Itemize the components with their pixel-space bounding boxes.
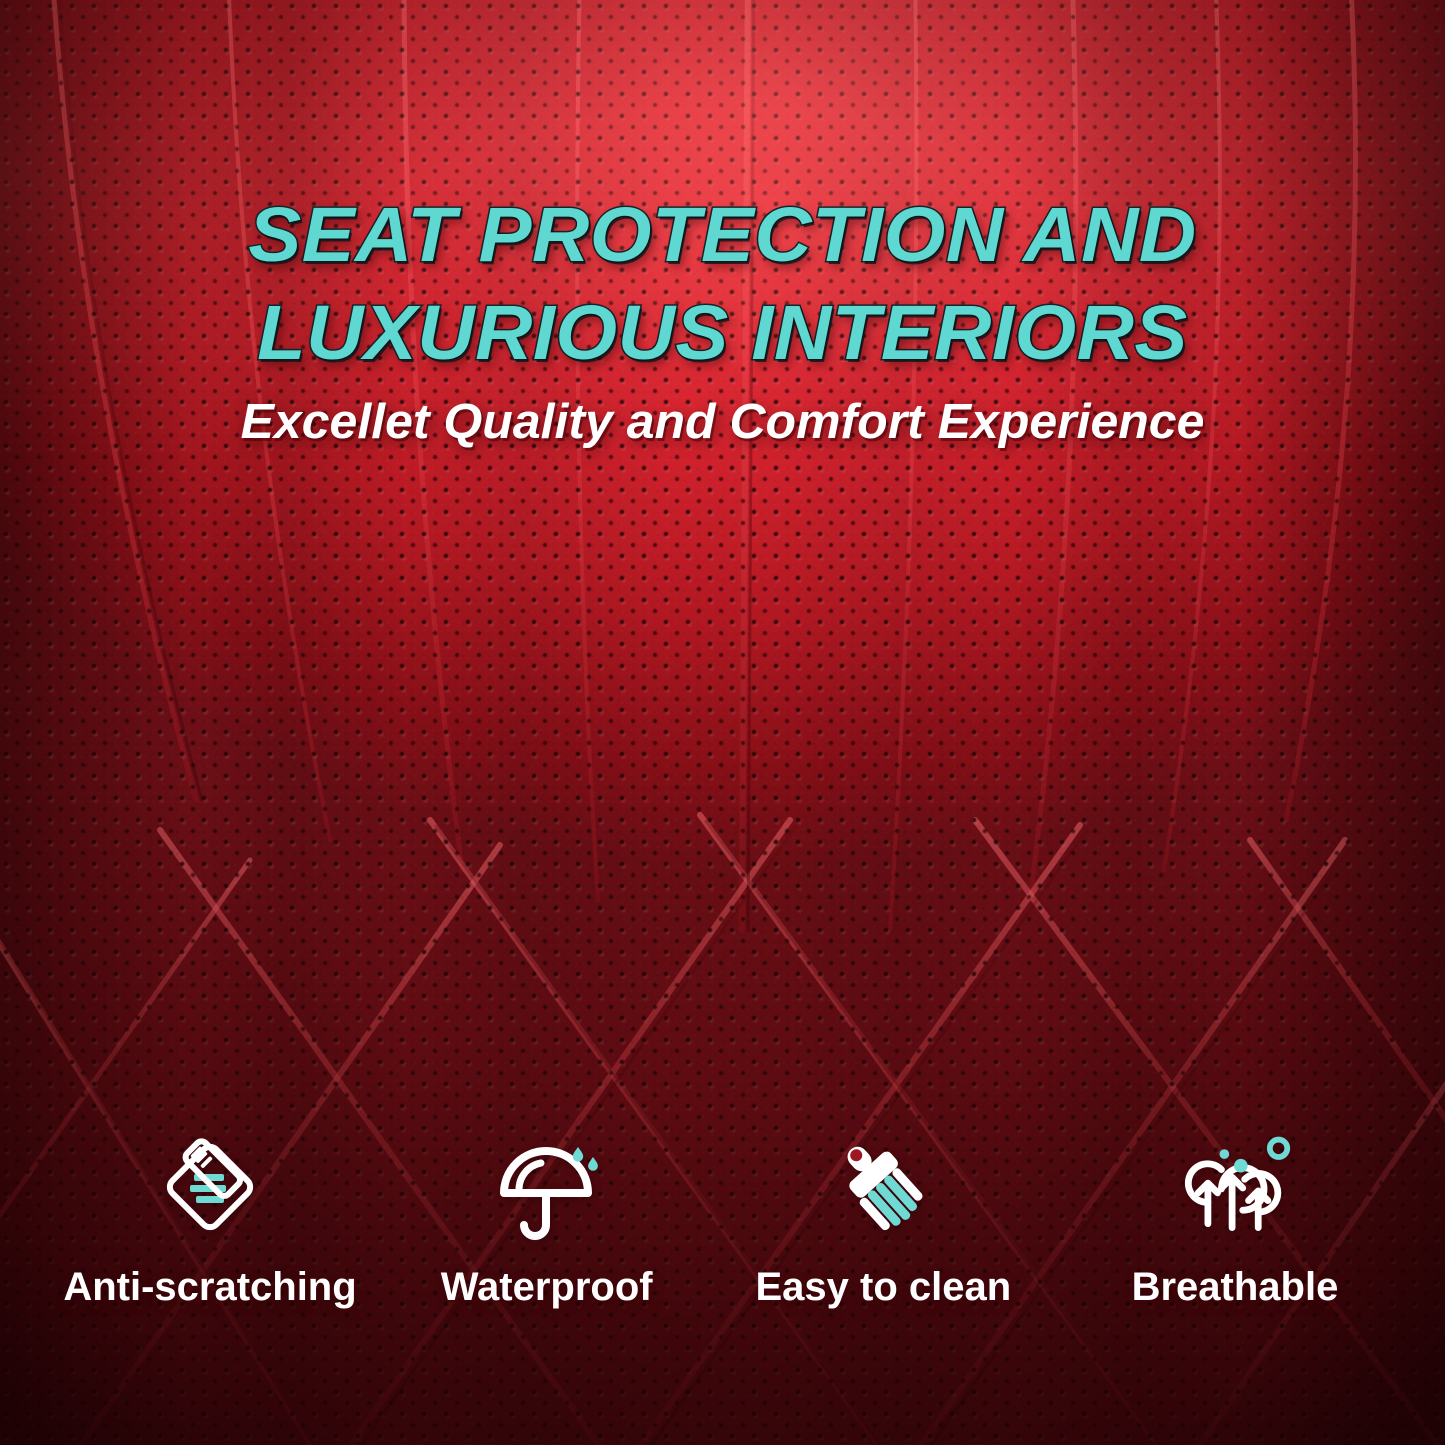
headline: SEAT PROTECTION AND LUXURIOUS INTERIORS <box>0 186 1445 382</box>
feature-easy-to-clean: Easy to clean <box>733 1132 1033 1310</box>
feature-waterproof: Waterproof <box>412 1132 682 1310</box>
headline-line-2: LUXURIOUS INTERIORS <box>0 284 1445 382</box>
feature-label: Waterproof <box>441 1264 653 1310</box>
feature-label: Anti-scratching <box>63 1264 356 1310</box>
feature-label: Easy to clean <box>755 1264 1011 1310</box>
anti-scratch-icon <box>150 1132 270 1242</box>
feature-list: Anti-scratching Waterproof <box>60 1132 1385 1310</box>
feature-breathable: Breathable <box>1085 1132 1385 1310</box>
product-infographic: SEAT PROTECTION AND LUXURIOUS INTERIORS … <box>0 0 1445 1445</box>
umbrella-icon <box>487 1132 607 1242</box>
feature-anti-scratching: Anti-scratching <box>60 1132 360 1310</box>
brush-icon <box>823 1132 943 1242</box>
subheadline: Excellet Quality and Comfort Experience <box>0 392 1445 452</box>
feature-label: Breathable <box>1132 1264 1339 1310</box>
breathable-air-icon <box>1175 1132 1295 1242</box>
headline-line-1: SEAT PROTECTION AND <box>0 186 1445 284</box>
